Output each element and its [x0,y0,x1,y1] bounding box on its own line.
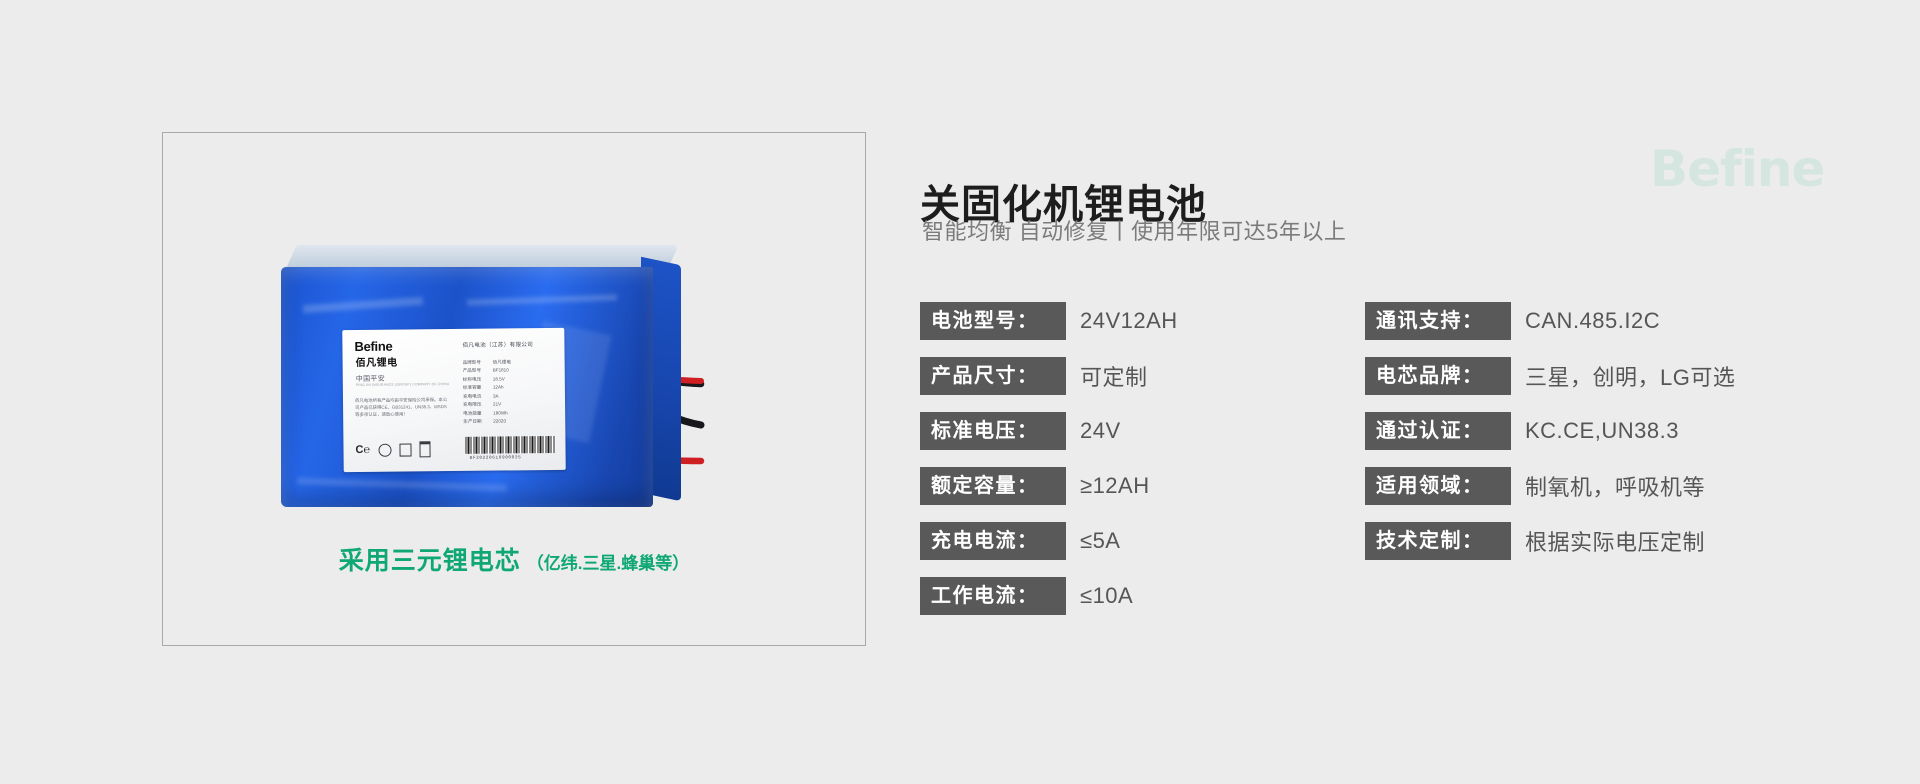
spec-key-chip: 充电电流： [920,522,1066,560]
brand-watermark-logo: Befine [1650,140,1824,198]
label-spec-key: 电池能量 [463,409,493,418]
label-spec-key: 生产日期 [463,418,493,427]
caption-sub-text: （亿纬.三星.蜂巢等） [527,554,689,573]
caption-main-text: 采用三元锂电芯 [339,547,521,575]
wrap-highlight [297,477,507,491]
spec-row: 额定容量： ≥12AH [920,467,1350,505]
spec-row: 电芯品牌： 三星，创明，LG可选 [1365,357,1865,395]
spec-value: 24V12AH [1080,308,1178,334]
spec-value: 可定制 [1080,360,1148,392]
label-spec-key: 品牌型号 [463,359,493,368]
label-notice-text: 佰凡电池所有产品均由平安保险公司承保。本公司产品已获得CE、GB31241、UN… [355,397,451,418]
spec-row: 电池型号： 24V12AH [920,302,1350,340]
li-ion-mark-icon [399,443,411,456]
ce-mark-icon: C℮ [355,444,370,455]
spec-key-chip: 电池型号： [920,302,1066,340]
label-spec-value: 180Wh [493,410,508,415]
battery-pack: Befine 佰凡锂电 中国平安 PING AN INSURANCE (GROU… [281,245,681,515]
spec-key-chip: 技术定制： [1365,522,1511,560]
spec-key-chip: 适用领域： [1365,467,1511,505]
label-spec-value: 21V [493,402,501,407]
spec-value: KC.CE,UN38.3 [1525,418,1679,444]
spec-key-chip: 额定容量： [920,467,1066,505]
spec-value: 根据实际电压定制 [1525,525,1705,557]
wee-bin-mark-icon [419,441,430,457]
spec-value: ≤5A [1080,528,1120,554]
label-spec-key: 标准容量 [463,384,493,393]
spec-key-chip: 通过认证： [1365,412,1511,450]
spec-key-chip: 通讯支持： [1365,302,1511,340]
spec-key-chip: 标准电压： [920,412,1066,450]
label-spec-list: 品牌型号佰凡锂电 产品型号BF1810 标称电压18.5V 标准容量12Ah [463,358,512,426]
spec-value: CAN.485.I2C [1525,308,1660,334]
label-barcode-number: BF20220610900035 [470,455,522,461]
spec-column-left: 电池型号： 24V12AH 产品尺寸： 可定制 标准电压： 24V 额定容量： … [920,302,1350,632]
spec-key-chip: 工作电流： [920,577,1066,615]
label-spec-row: 标称电压18.5V [463,375,511,384]
label-partner-mark-sub: PING AN INSURANCE (GROUP) COMPANY OF CHI… [356,382,450,387]
label-spec-value: BF1810 [493,368,509,373]
spec-value: 24V [1080,418,1121,444]
spec-row: 适用领域： 制氧机，呼吸机等 [1365,467,1865,505]
wrap-highlight [303,297,423,313]
spec-value: ≤10A [1080,583,1133,609]
recycle-mark-icon [378,443,391,456]
spec-row: 标准电压： 24V [920,412,1350,450]
page-subtitle: 智能均衡 自动修复丨使用年限可达5年以上 [922,214,1346,246]
spec-row: 通讯支持： CAN.485.I2C [1365,302,1865,340]
spec-key-chip: 电芯品牌： [1365,357,1511,395]
label-barcode-icon [465,436,555,454]
spec-key-chip: 产品尺寸： [920,357,1066,395]
product-image-frame: Befine 佰凡锂电 中国平安 PING AN INSURANCE (GROU… [162,132,866,646]
spec-value: 三星，创明，LG可选 [1525,360,1735,392]
spec-row: 充电电流： ≤5A [920,522,1350,560]
label-company-name: 佰凡电池（江苏）有限公司 [462,340,533,349]
product-detail-page: Befine 佰凡锂电 中国平安 PING AN INSURANCE (GROU… [0,0,1920,784]
label-spec-row: 生产日期22020 [463,418,511,427]
label-brand-en: Befine [354,339,392,354]
label-brand-cn: 佰凡锂电 [356,354,398,369]
label-spec-value: 12Ah [493,385,504,390]
battery-spec-label: Befine 佰凡锂电 中国平安 PING AN INSURANCE (GROU… [342,328,565,472]
label-spec-key: 产品型号 [463,367,493,376]
product-info-column: Befine 关固化机锂电池 智能均衡 自动修复丨使用年限可达5年以上 电池型号… [920,132,1880,646]
spec-value: ≥12AH [1080,473,1150,499]
spec-row: 技术定制： 根据实际电压定制 [1365,522,1865,560]
label-spec-key: 充电电流 [463,393,493,402]
label-spec-value: 22020 [493,419,506,424]
product-image-stage: Befine 佰凡锂电 中国平安 PING AN INSURANCE (GROU… [163,133,865,645]
battery-front-face: Befine 佰凡锂电 中国平安 PING AN INSURANCE (GROU… [281,267,653,507]
spec-column-right: 通讯支持： CAN.485.I2C 电芯品牌： 三星，创明，LG可选 通过认证：… [1365,302,1865,577]
spec-row: 产品尺寸： 可定制 [920,357,1350,395]
wrap-highlight [467,294,617,305]
label-spec-key: 充电限压 [463,401,493,410]
label-spec-value: 3A [493,393,499,398]
product-image-caption: 采用三元锂电芯（亿纬.三星.蜂巢等） [163,541,865,577]
label-spec-key: 标称电压 [463,376,493,385]
spec-row: 工作电流： ≤10A [920,577,1350,615]
label-certification-marks: C℮ [355,441,430,458]
spec-value: 制氧机，呼吸机等 [1525,470,1705,502]
label-spec-value: 佰凡锂电 [493,359,511,364]
spec-row: 通过认证： KC.CE,UN38.3 [1365,412,1865,450]
label-spec-value: 18.5V [493,376,505,381]
